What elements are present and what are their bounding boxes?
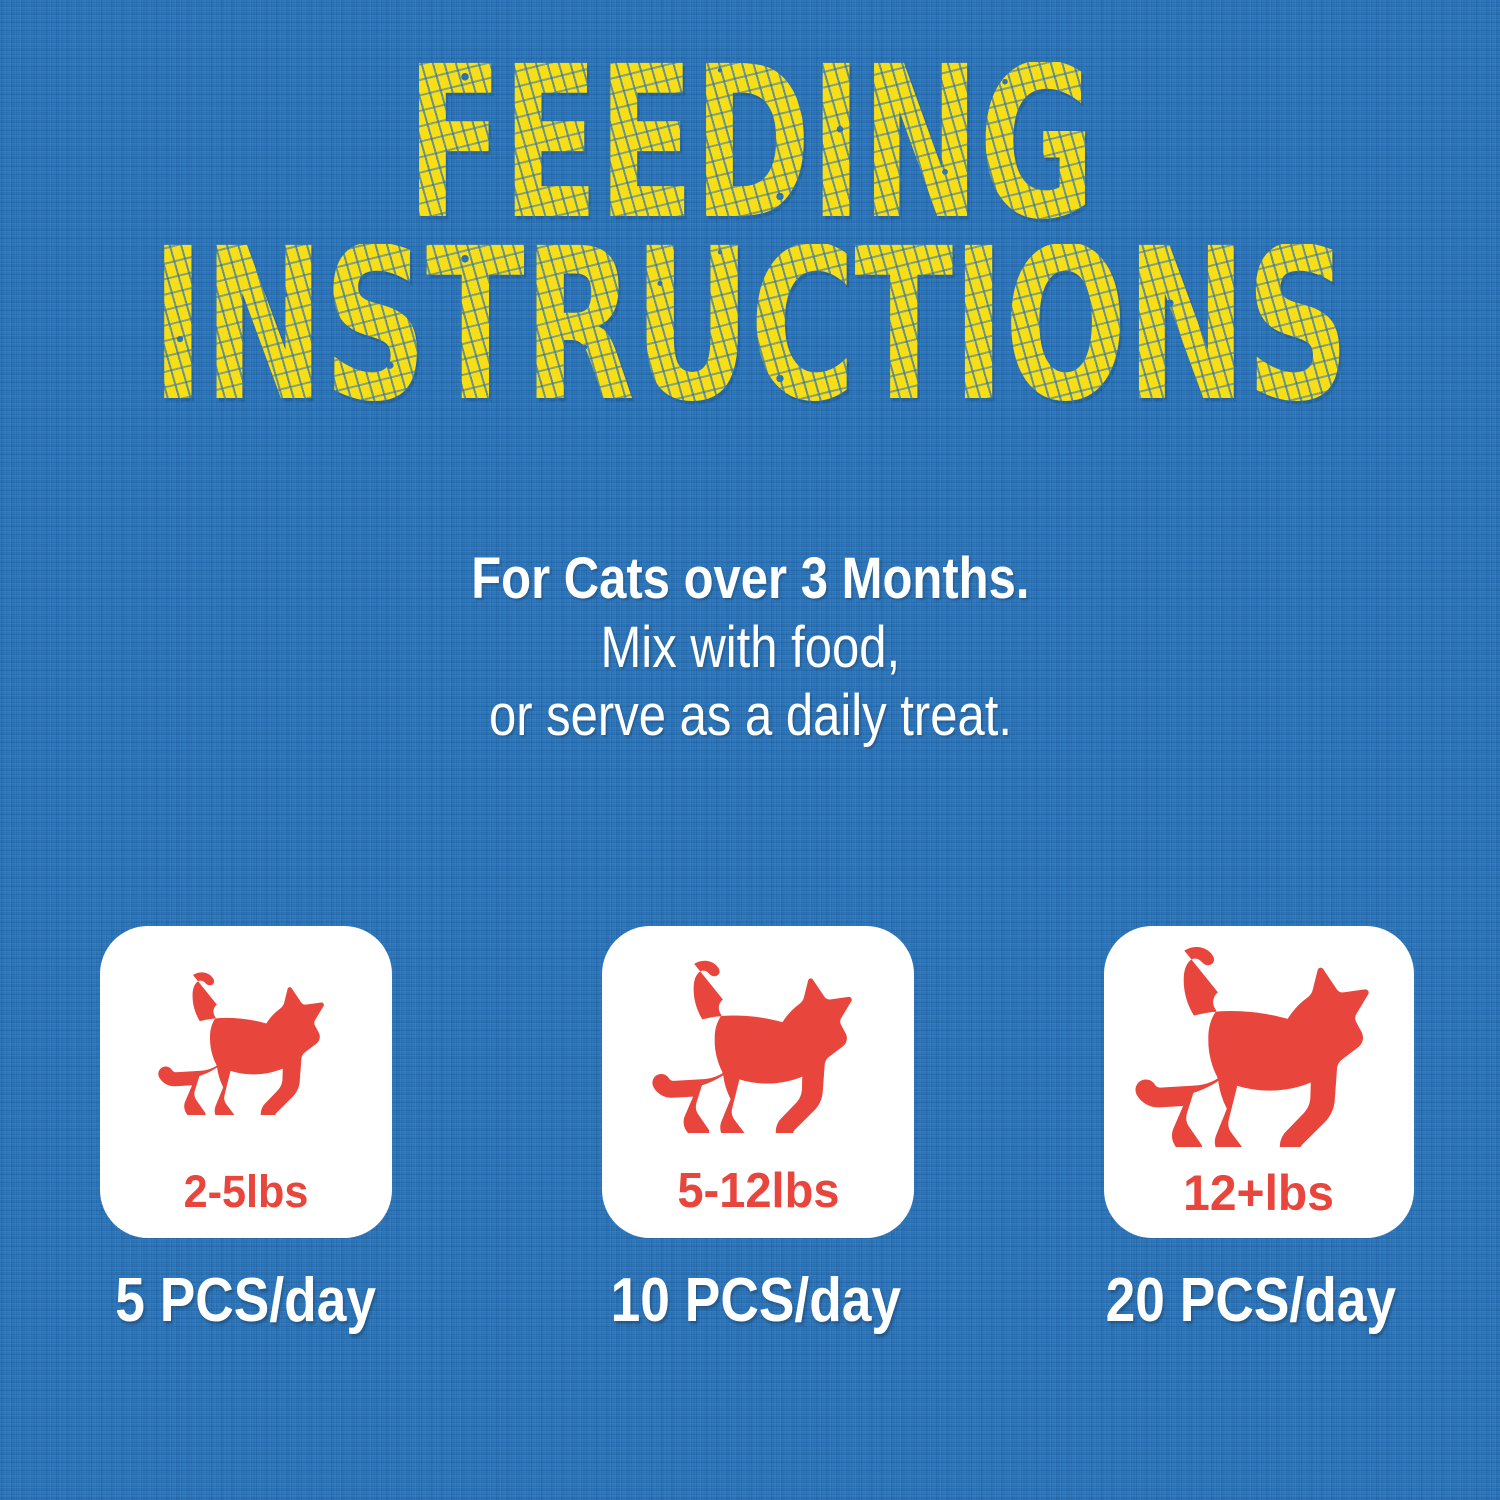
walking-cat-icon bbox=[602, 952, 914, 1140]
dosage-label-small: 5 PCS/day bbox=[85, 1270, 407, 1332]
weight-card-medium: 5-12lbs bbox=[602, 926, 914, 1238]
weight-card-small: 2-5lbs bbox=[100, 926, 392, 1238]
walking-cat-icon bbox=[1104, 940, 1414, 1152]
dosage-label-large: 20 PCS/day bbox=[1050, 1270, 1452, 1332]
walking-cat-icon bbox=[100, 964, 392, 1122]
feeding-instructions-panel: FEEDING INSTRUCTIONS For Cats over 3 Mon… bbox=[0, 0, 1500, 1500]
weight-label: 12+lbs bbox=[1104, 1168, 1414, 1218]
weight-label: 2-5lbs bbox=[100, 1169, 392, 1214]
dosage-label-medium: 10 PCS/day bbox=[555, 1270, 957, 1332]
weight-label: 5-12lbs bbox=[602, 1167, 914, 1216]
weight-card-large: 12+lbs bbox=[1104, 926, 1414, 1238]
